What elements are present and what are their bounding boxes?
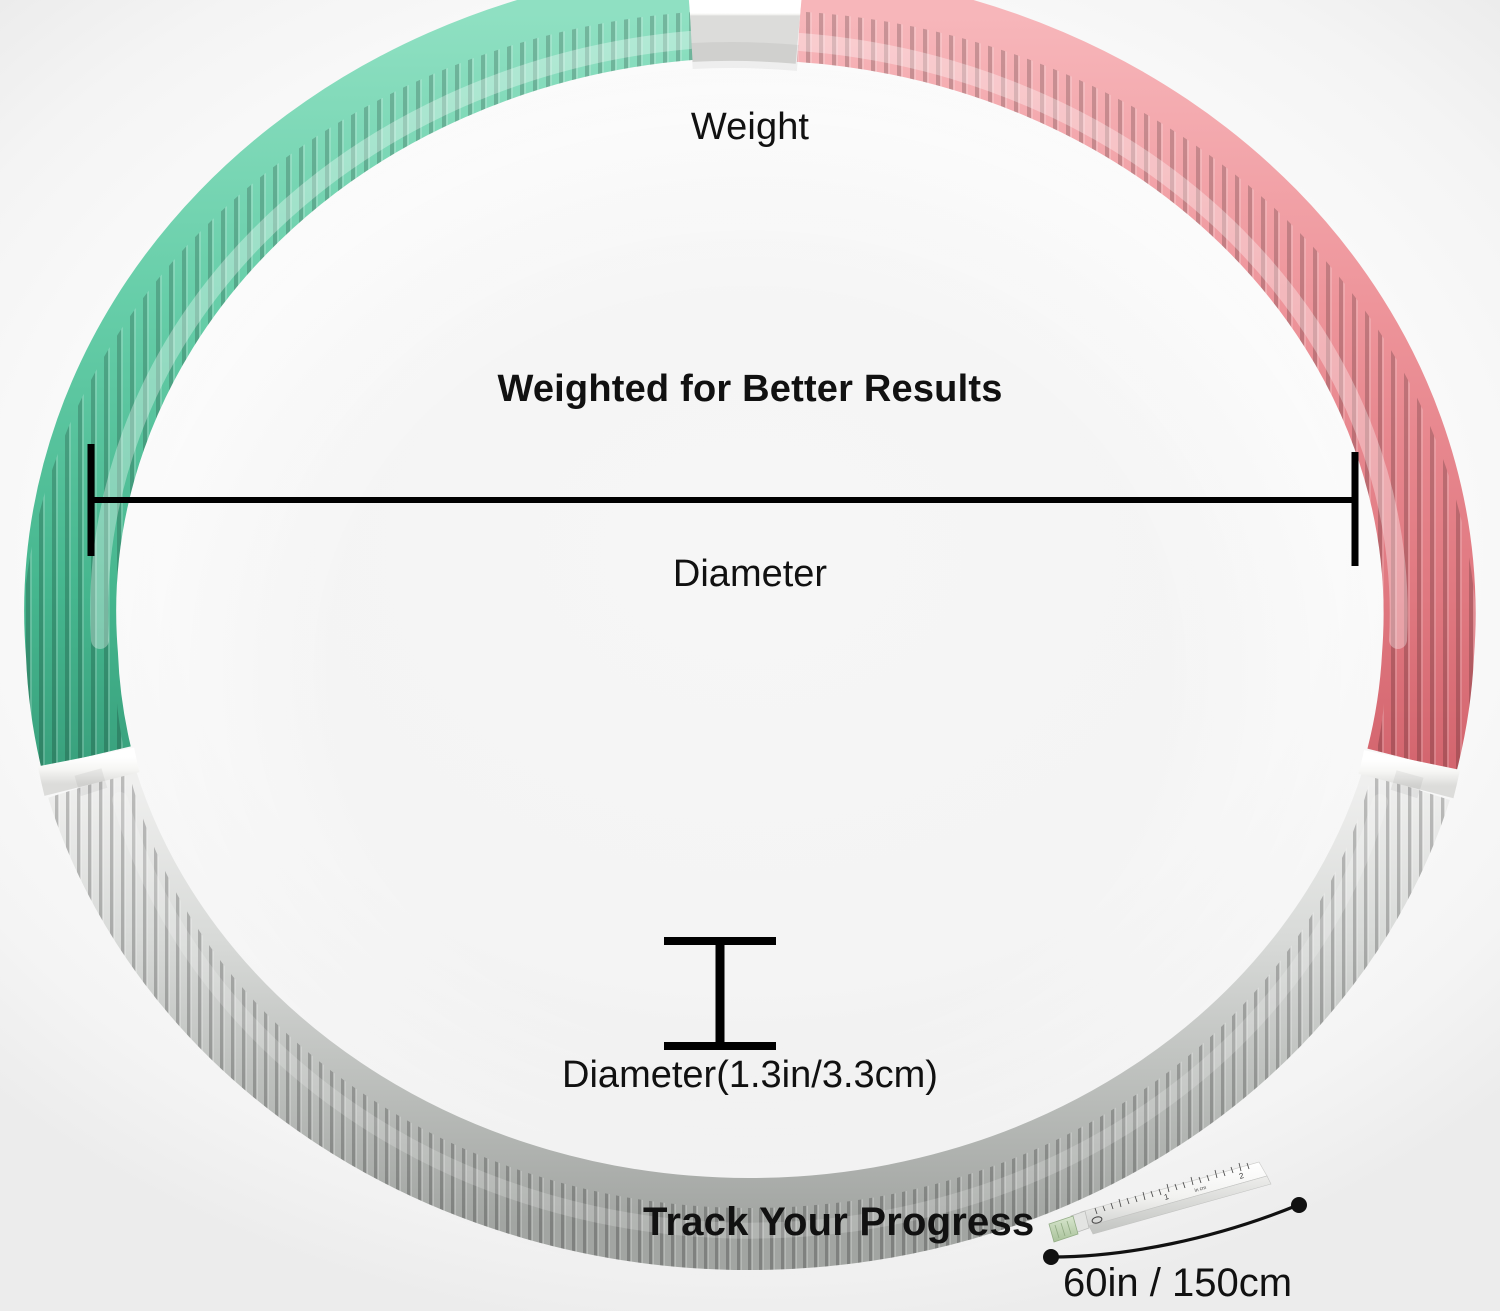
tube-diameter-label: Diameter(1.3in/3.3cm) bbox=[562, 1056, 938, 1094]
curve-endpoint-right bbox=[1291, 1197, 1307, 1213]
weight-label: Weight bbox=[691, 108, 809, 146]
headline-weighted-for-better-results: Weighted for Better Results bbox=[497, 370, 1002, 408]
track-your-progress-label: Track Your Progress bbox=[643, 1202, 1034, 1242]
hoop-diameter-label: Diameter bbox=[673, 555, 827, 593]
curve-endpoint-left bbox=[1043, 1249, 1059, 1265]
connector-top bbox=[690, 13, 800, 16]
tape-length-curve bbox=[1030, 1195, 1320, 1275]
hula-hoop-illustration bbox=[0, 0, 1500, 1311]
product-image-canvas: Weight Weighted for Better Results Diame… bbox=[0, 0, 1500, 1311]
